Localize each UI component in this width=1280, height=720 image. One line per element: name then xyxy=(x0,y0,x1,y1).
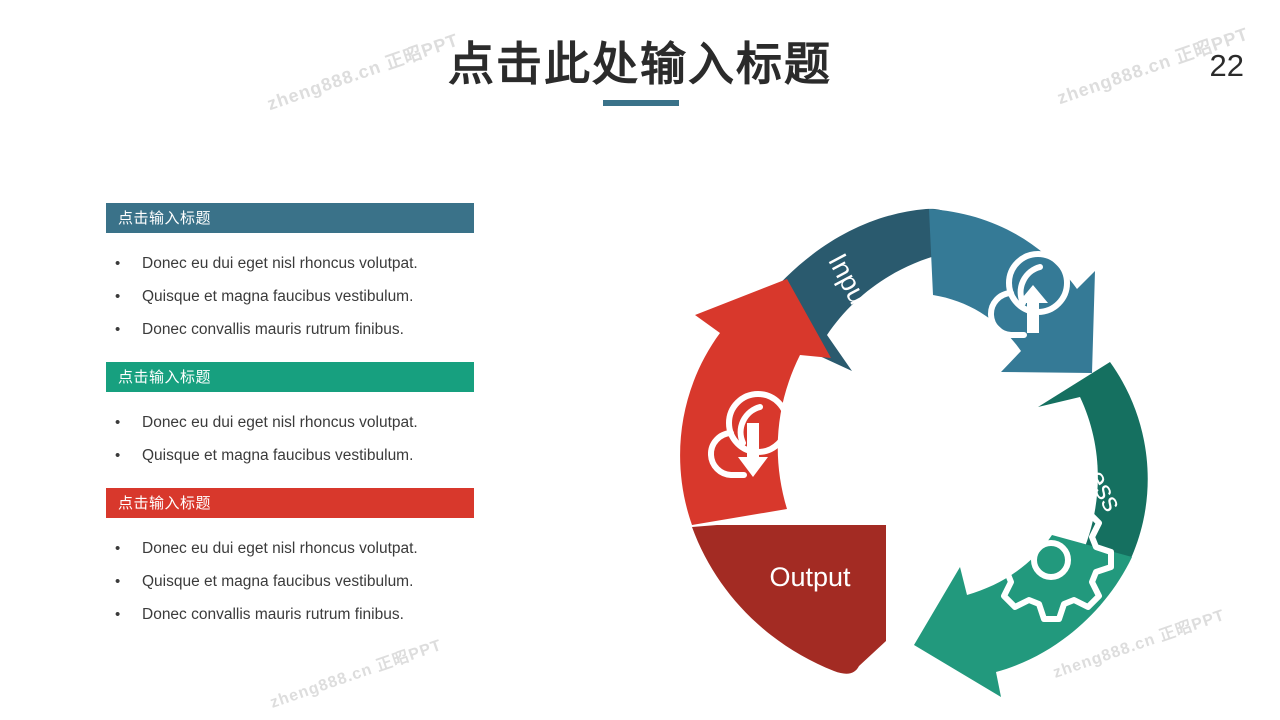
list-item: • Donec eu dui eget nisl rhoncus volutpa… xyxy=(106,247,474,280)
bullet-text: Donec eu dui eget nisl rhoncus volutpat. xyxy=(142,414,418,431)
list-item: • Quisque et magna faucibus vestibulum. xyxy=(106,565,474,598)
list-item: • Quisque et magna faucibus vestibulum. xyxy=(106,439,474,472)
content-section-2: 点击输入标题 • Donec eu dui eget nisl rhoncus … xyxy=(106,362,474,478)
section-header-1: 点击输入标题 xyxy=(106,203,474,233)
bullet-text: Quisque et magna faucibus vestibulum. xyxy=(142,447,413,464)
bullet-list-2: • Donec eu dui eget nisl rhoncus volutpa… xyxy=(106,392,474,478)
bullet-marker-icon: • xyxy=(115,280,120,313)
bullet-marker-icon: • xyxy=(115,565,120,598)
slide-canvas: 点击此处输入标题 22 点击输入标题 • Donec eu dui eget n… xyxy=(0,0,1280,720)
bullet-text: Quisque et magna faucibus vestibulum. xyxy=(142,288,413,305)
bullet-text: Quisque et magna faucibus vestibulum. xyxy=(142,573,413,590)
title-underline xyxy=(603,100,679,106)
page-title: 点击此处输入标题 xyxy=(0,28,1280,94)
output-dark-shape xyxy=(692,525,886,674)
output-label: Output xyxy=(769,562,851,592)
list-item: • Donec convallis mauris rutrum finibus. xyxy=(106,598,474,631)
section-header-3: 点击输入标题 xyxy=(106,488,474,518)
bullet-text: Donec eu dui eget nisl rhoncus volutpat. xyxy=(142,255,418,272)
bullet-marker-icon: • xyxy=(115,406,120,439)
recycle-cycle-diagram: Input Process xyxy=(640,175,1180,705)
section-header-2: 点击输入标题 xyxy=(106,362,474,392)
bullet-marker-icon: • xyxy=(115,313,120,346)
list-item: • Quisque et magna faucibus vestibulum. xyxy=(106,280,474,313)
process-light-shape xyxy=(914,535,1132,697)
bullet-marker-icon: • xyxy=(115,247,120,280)
bullet-marker-icon: • xyxy=(115,532,120,565)
bullet-marker-icon: • xyxy=(115,598,120,631)
list-item: • Donec eu dui eget nisl rhoncus volutpa… xyxy=(106,532,474,565)
content-section-3: 点击输入标题 • Donec eu dui eget nisl rhoncus … xyxy=(106,488,474,637)
content-section-1: 点击输入标题 • Donec eu dui eget nisl rhoncus … xyxy=(106,203,474,352)
content-panel: 点击输入标题 • Donec eu dui eget nisl rhoncus … xyxy=(106,203,474,647)
bullet-marker-icon: • xyxy=(115,439,120,472)
bullet-text: Donec convallis mauris rutrum finibus. xyxy=(142,606,404,623)
diagram-segment-output[interactable]: Output xyxy=(680,279,886,674)
diagram-segment-process[interactable]: Process xyxy=(914,362,1148,697)
list-item: • Donec eu dui eget nisl rhoncus volutpa… xyxy=(106,406,474,439)
bullet-list-3: • Donec eu dui eget nisl rhoncus volutpa… xyxy=(106,518,474,637)
page-number: 22 xyxy=(1210,48,1244,84)
bullet-text: Donec convallis mauris rutrum finibus. xyxy=(142,321,404,338)
list-item: • Donec convallis mauris rutrum finibus. xyxy=(106,313,474,346)
bullet-text: Donec eu dui eget nisl rhoncus volutpat. xyxy=(142,540,418,557)
bullet-list-1: • Donec eu dui eget nisl rhoncus volutpa… xyxy=(106,233,474,352)
